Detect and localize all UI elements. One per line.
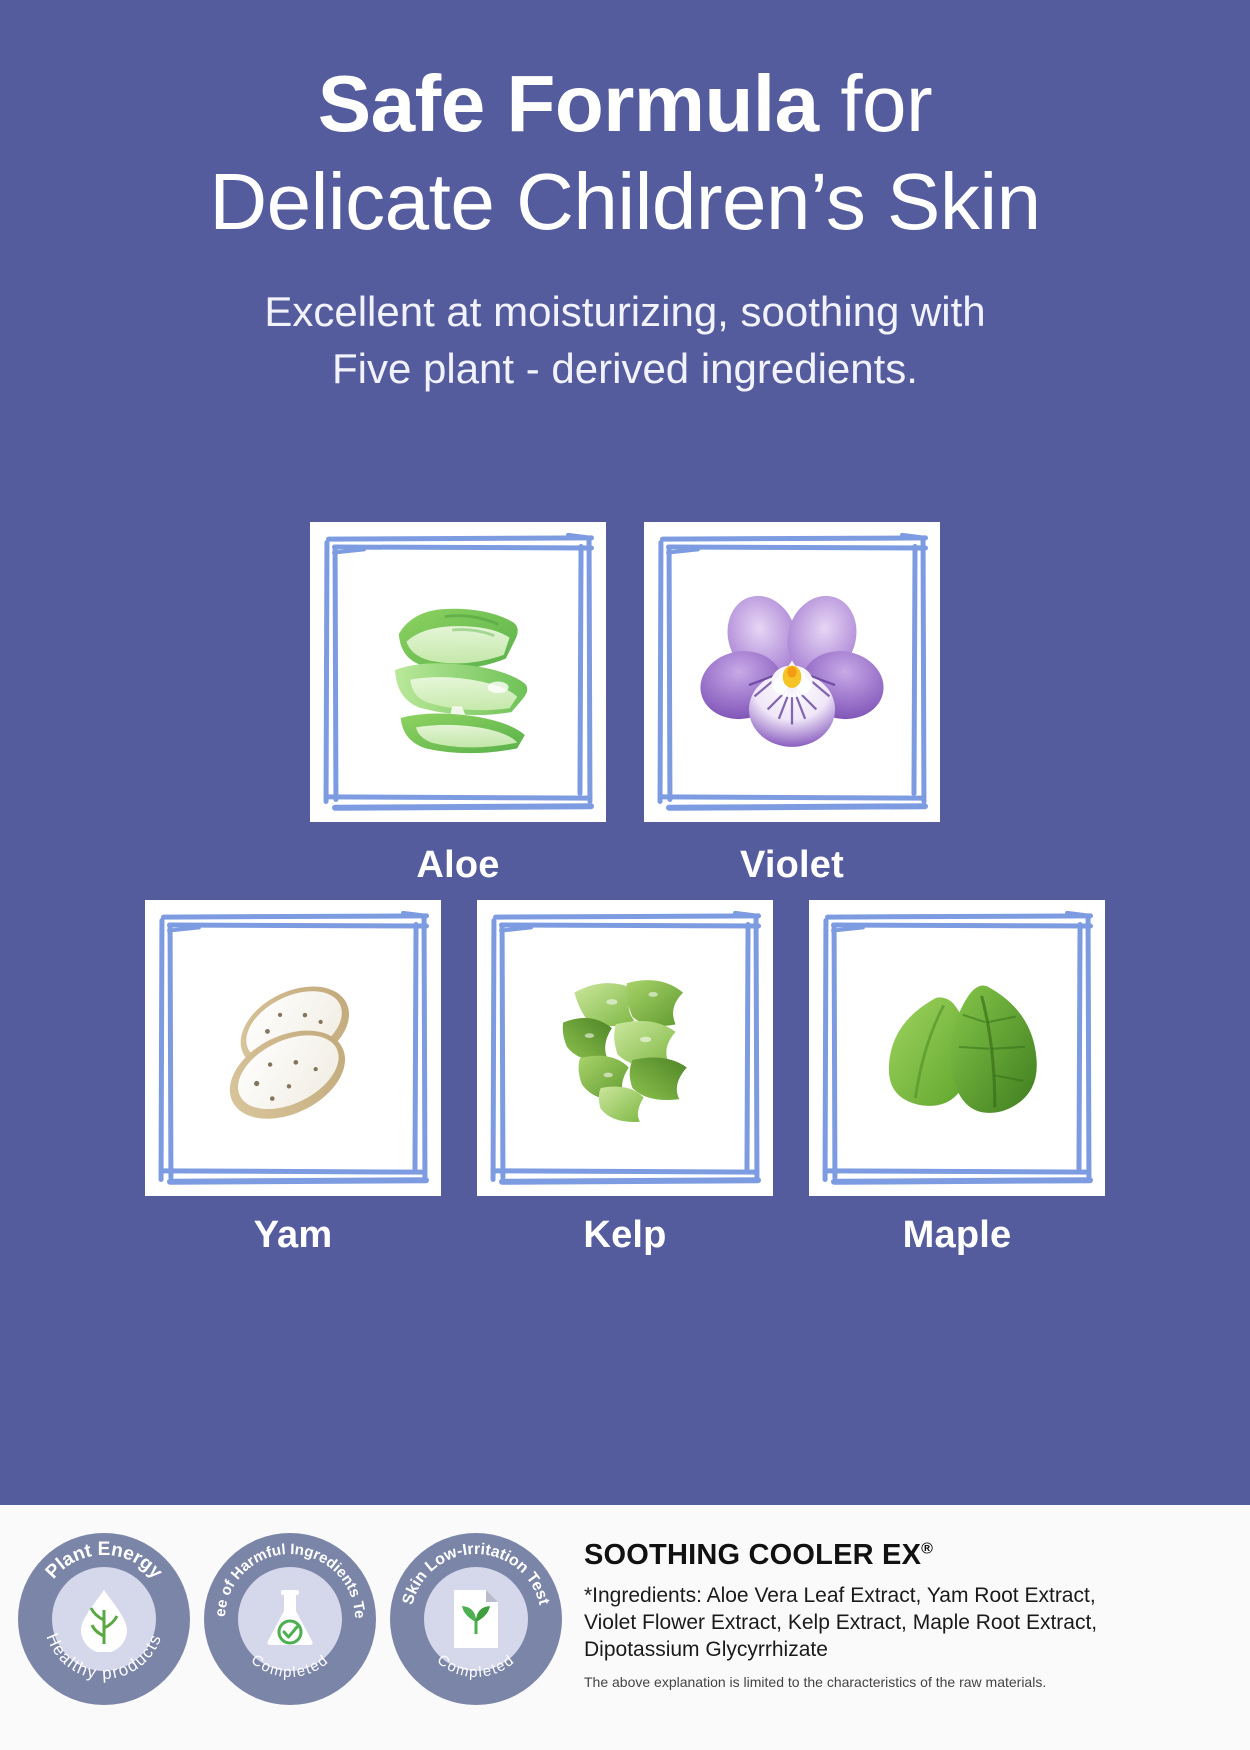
- brand-name: SOOTHING COOLER EX®: [584, 1539, 1097, 1572]
- ingredient-label: Violet: [740, 844, 844, 887]
- ingredient-row-top: Aloe: [0, 522, 1250, 887]
- badge-bottom-text: Completed: [248, 1651, 332, 1681]
- ingredient-card-aloe[interactable]: Aloe: [310, 522, 606, 887]
- registered-trademark-icon: ®: [921, 1540, 933, 1557]
- subtitle-line-2: Five plant - derived ingredients.: [0, 341, 1250, 398]
- ingredient-frame: [477, 900, 773, 1196]
- ingredient-label: Maple: [903, 1214, 1012, 1257]
- svg-text:Plant Energy: Plant Energy: [42, 1539, 167, 1583]
- headline-emphasis: Safe Formula: [318, 59, 819, 148]
- kelp-seaweed-icon: [511, 932, 739, 1158]
- badge-top-text: Free of Harmful Ingredients Test: [204, 1533, 368, 1619]
- svg-text:Healthy products: Healthy products: [42, 1630, 165, 1683]
- badge-top-text: Skin Low-Irritation Test: [400, 1541, 553, 1607]
- svg-text:Completed: Completed: [434, 1651, 518, 1681]
- ingredient-row-bottom: Yam: [0, 900, 1250, 1257]
- disclaimer-text: The above explanation is limited to the …: [584, 1674, 1097, 1690]
- free-of-harmful-ingredients-badge: Free of Harmful Ingredients Test Complet…: [204, 1533, 376, 1705]
- badge-top-text: Plant Energy: [42, 1539, 167, 1583]
- skin-low-irritation-badge: Skin Low-Irritation Test Completed: [390, 1533, 562, 1705]
- svg-text:Completed: Completed: [248, 1651, 332, 1681]
- badge-bottom-text: Completed: [434, 1651, 518, 1681]
- subtitle-line-1: Excellent at moisturizing, soothing with: [0, 284, 1250, 341]
- headline-line-1-rest: for: [819, 59, 933, 148]
- ingredients-line-1: *Ingredients: Aloe Vera Leaf Extract, Ya…: [584, 1583, 1097, 1610]
- ingredients-list: *Ingredients: Aloe Vera Leaf Extract, Ya…: [584, 1583, 1097, 1664]
- page-title: Safe Formula for Delicate Children’s Ski…: [0, 0, 1250, 244]
- subtitle: Excellent at moisturizing, soothing with…: [0, 244, 1250, 397]
- svg-text:Free of Harmful Ingredients Te: Free of Harmful Ingredients Test: [204, 1533, 368, 1619]
- headline-line-1: Safe Formula for: [0, 62, 1250, 146]
- ingredient-frame: [809, 900, 1105, 1196]
- ingredient-label: Yam: [254, 1214, 333, 1257]
- ingredient-card-yam[interactable]: Yam: [145, 900, 441, 1257]
- product-info: SOOTHING COOLER EX® *Ingredients: Aloe V…: [562, 1505, 1097, 1690]
- ingredients-line-2: Violet Flower Extract, Kelp Extract, Map…: [584, 1610, 1097, 1637]
- violet-flower-icon: [678, 558, 906, 786]
- ingredient-frame: [644, 522, 940, 822]
- svg-text:Skin Low-Irritation Test: Skin Low-Irritation Test: [400, 1541, 553, 1607]
- ingredient-label: Aloe: [416, 844, 499, 887]
- footer-section: Plant Energy Healthy products: [0, 1505, 1250, 1750]
- certification-badges: Plant Energy Healthy products: [0, 1505, 562, 1705]
- badge-bottom-text: Healthy products: [42, 1630, 165, 1683]
- brand-name-text: SOOTHING COOLER EX: [584, 1539, 921, 1571]
- yam-slices-icon: [179, 932, 407, 1158]
- product-infographic-poster: Safe Formula for Delicate Children’s Ski…: [0, 0, 1250, 1750]
- ingredient-label: Kelp: [583, 1214, 666, 1257]
- headline-line-2: Delicate Children’s Skin: [0, 160, 1250, 244]
- maple-leaves-icon: [843, 932, 1071, 1158]
- ingredients-line-3: Dipotassium Glycyrrhizate: [584, 1637, 1097, 1664]
- ingredient-frame: [145, 900, 441, 1196]
- aloe-vera-icon: [344, 558, 572, 786]
- hero-section: Safe Formula for Delicate Children’s Ski…: [0, 0, 1250, 1505]
- ingredient-card-maple[interactable]: Maple: [809, 900, 1105, 1257]
- ingredient-frame: [310, 522, 606, 822]
- ingredient-card-violet[interactable]: Violet: [644, 522, 940, 887]
- plant-energy-badge: Plant Energy Healthy products: [18, 1533, 190, 1705]
- ingredient-card-kelp[interactable]: Kelp: [477, 900, 773, 1257]
